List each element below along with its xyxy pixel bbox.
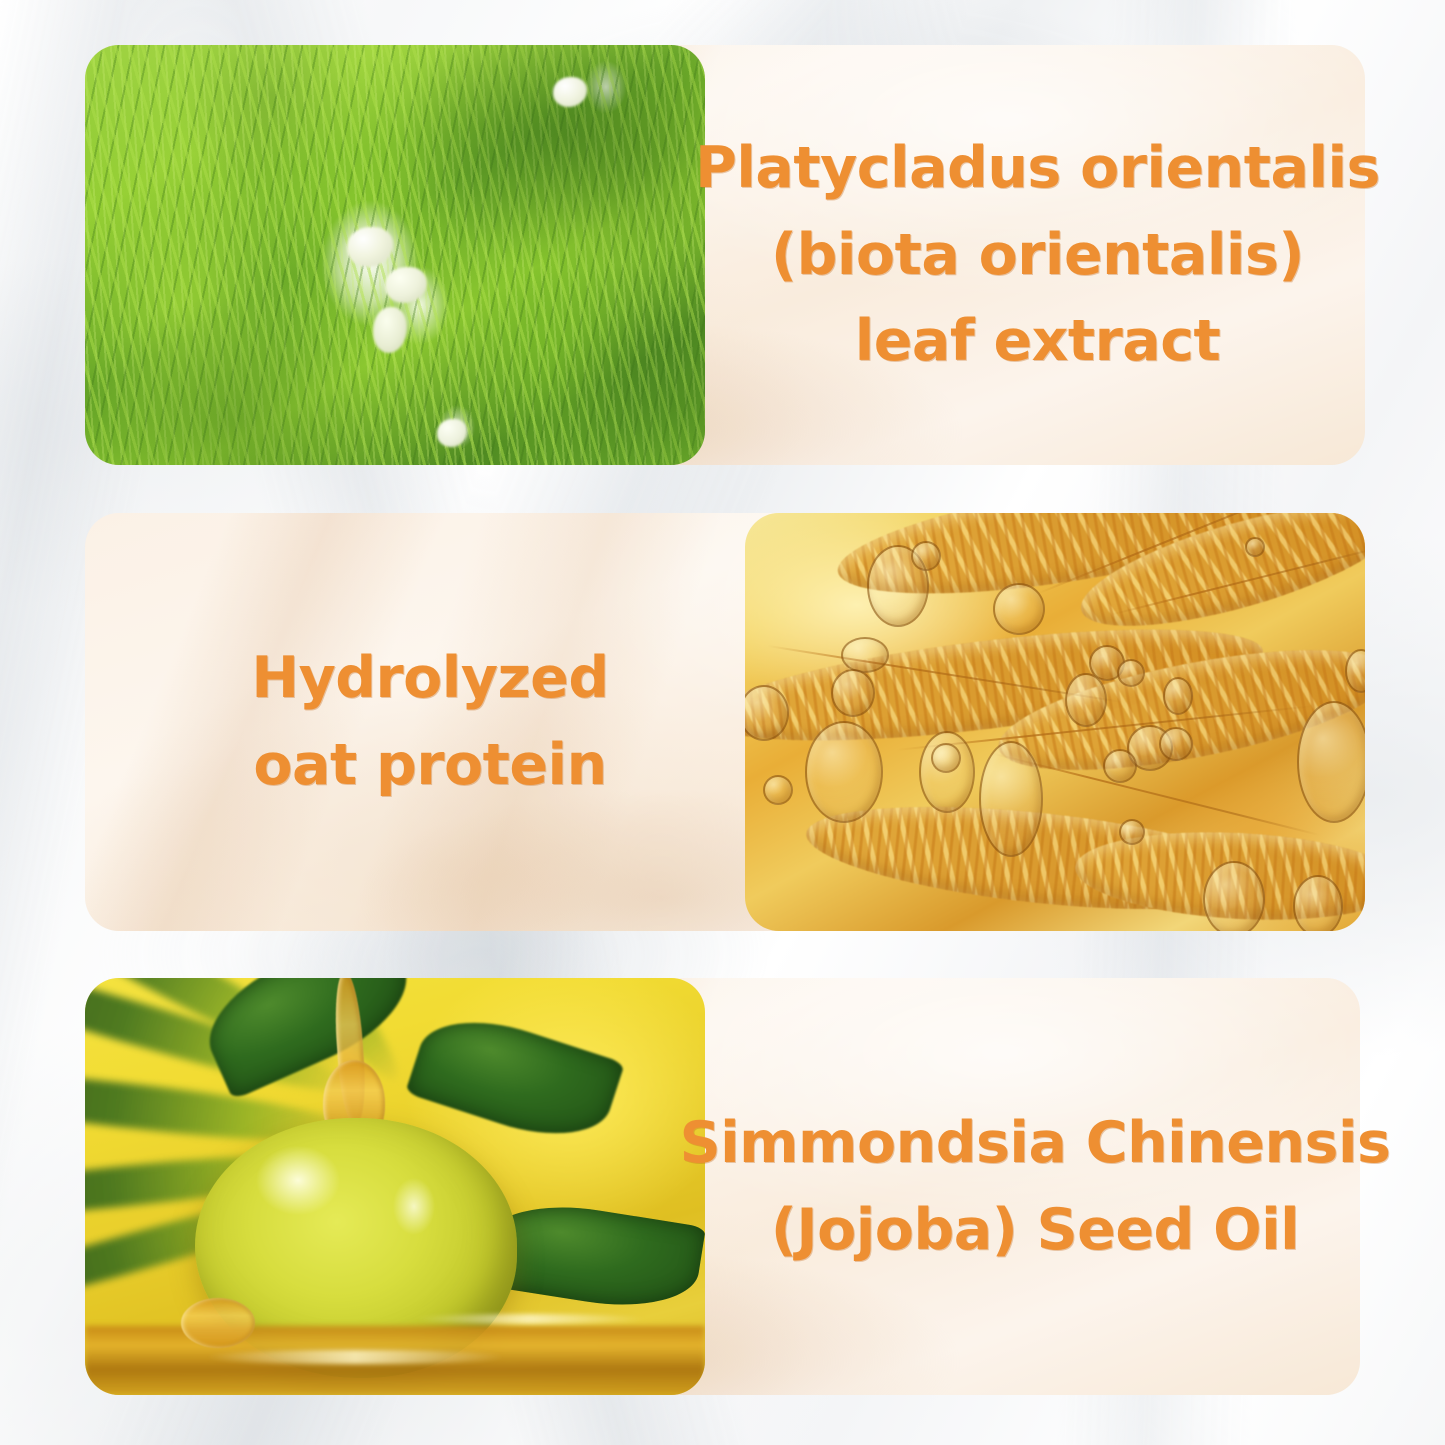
panel-text-line: oat protein [253,722,606,809]
panel-text-line: leaf extract [855,298,1221,385]
oil-bubble [805,721,883,823]
oil-bubble [831,669,875,717]
panel-text-oat-protein: Hydrolyzed oat protein [150,513,710,931]
oil-bubble [1117,659,1145,687]
oil-bubble [1297,701,1365,823]
oil-bubble [841,637,889,673]
photo-jojoba-seed-oil [85,978,705,1395]
panel-text-line: Platycladus orientalis [695,125,1380,212]
jojoba-leaf [405,1001,625,1154]
oil-bubble [993,583,1045,635]
ingredient-infographic: Platycladus orientalis (biota orientalis… [0,0,1445,1445]
conifer-depth-blur [85,45,705,465]
oil-bubble [911,541,941,571]
oil-sheen [415,1314,645,1324]
panel-text-line: (Jojoba) Seed Oil [771,1187,1299,1274]
panel-text-line: Simmondsia Chinensis [680,1100,1391,1187]
oil-droplet [181,1298,255,1348]
oil-bubble [1159,727,1193,761]
oil-sheen [205,1350,505,1364]
oil-bubble [1163,677,1193,715]
oil-bubble [1293,875,1343,931]
oil-bubble [1245,537,1265,557]
panel-text-jojoba: Simmondsia Chinensis (Jojoba) Seed Oil [710,978,1360,1395]
panel-text-line: Hydrolyzed [251,635,608,722]
panel-text-line: (biota orientalis) [771,212,1304,299]
oil-bubble [1103,749,1137,783]
photo-platycladus-foliage [85,45,705,465]
oil-bubble [763,775,793,805]
oil-bubble [931,743,961,773]
panel-text-platycladus: Platycladus orientalis (biota orientalis… [710,45,1365,465]
oil-bubble [1203,861,1265,931]
photo-oat-wheat-oil [745,513,1365,931]
oil-bubble [1119,819,1145,845]
oil-bubble [979,741,1043,857]
oil-bubble [1065,673,1107,727]
